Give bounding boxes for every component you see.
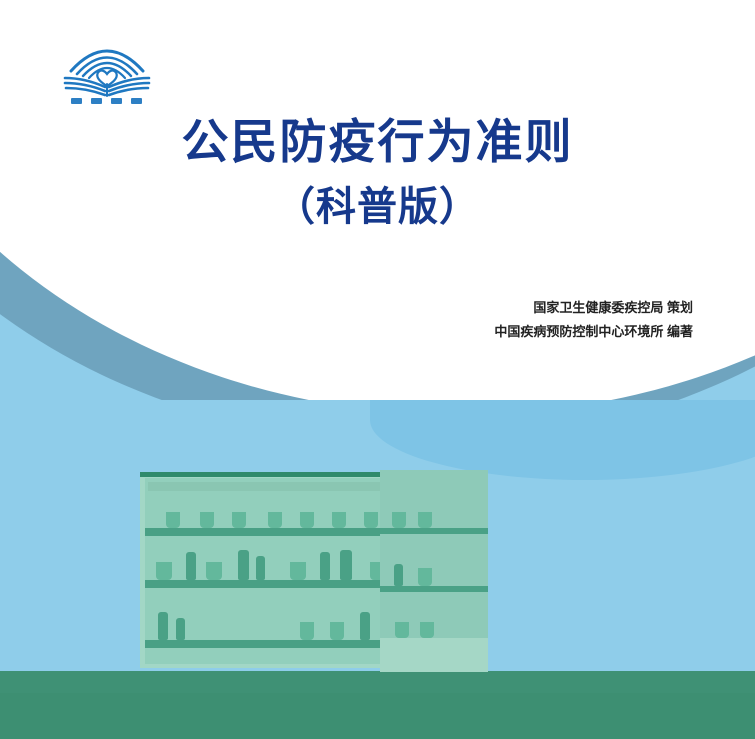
shelf-product (418, 568, 432, 586)
credit-line-2: 中国疾病预防控制中心环境所 编著 (494, 320, 693, 344)
shelf-product (360, 612, 370, 640)
shelf-product (238, 550, 249, 580)
shelf-product (232, 512, 246, 528)
right-shelf-lower-box (380, 638, 488, 672)
shelf-product (166, 512, 180, 528)
credit-line-1: 国家卫生健康委疾控局 策划 (494, 296, 693, 320)
shelf-product (300, 622, 314, 640)
shelf-product (392, 512, 406, 528)
shelf-product (200, 512, 214, 528)
shelf-product (156, 562, 172, 580)
shelf-product (300, 512, 314, 528)
back-wall-curve (370, 400, 755, 480)
page-title: 公民防疫行为准则 (0, 112, 755, 172)
title-block: 公民防疫行为准则 （科普版） (0, 112, 755, 236)
floor-front (0, 693, 755, 739)
shelf-product (364, 512, 378, 528)
shelf-product (395, 622, 409, 638)
cdc-logo (57, 28, 157, 106)
shelf-product (394, 564, 403, 586)
cover-section: 公民防疫行为准则 （科普版） 国家卫生健康委疾控局 策划 中国疾病预防控制中心环… (0, 0, 755, 430)
shelf-product (330, 622, 344, 640)
shelf-product (268, 512, 282, 528)
page-subtitle: （科普版） (0, 178, 755, 236)
shelf-product (206, 562, 222, 580)
right-shelf-row (380, 586, 488, 592)
poster-page: 公民防疫行为准则 （科普版） 国家卫生健康委疾控局 策划 中国疾病预防控制中心环… (0, 0, 755, 739)
shelf-product (186, 552, 196, 580)
credits-block: 国家卫生健康委疾控局 策划 中国疾病预防控制中心环境所 编著 (494, 296, 693, 344)
right-shelf-row (380, 528, 488, 534)
shelf-product (340, 550, 352, 580)
shelf-product (332, 512, 346, 528)
shelf-product (158, 612, 168, 640)
shelf-product (290, 562, 306, 580)
shelf-product (320, 552, 330, 580)
shelf-product (418, 512, 432, 528)
supermarket-illustration: 如何洗手 HOW TO HANDWASH 自助购物结算机 (0, 400, 755, 739)
shelf-product (420, 622, 434, 638)
shelf-product (176, 618, 185, 640)
shelf-product (256, 556, 265, 580)
